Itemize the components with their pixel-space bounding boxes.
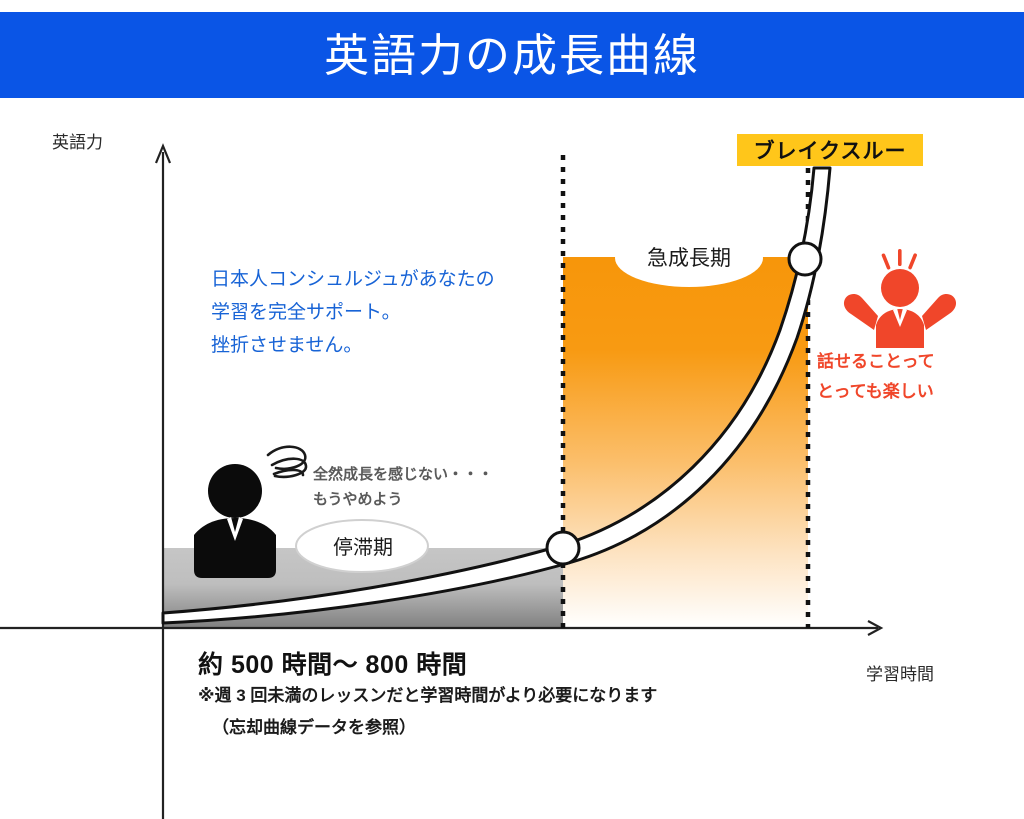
marker-breakthrough <box>789 243 821 275</box>
scribble-icon <box>268 447 306 477</box>
marker-stagnation-end <box>547 532 579 564</box>
consultant-support-note: 日本人コンシュルジュがあなたの 学習を完全サポート。 挫折させません。 <box>211 263 495 362</box>
phase-label-rapid-growth: 急成長期 <box>625 234 753 280</box>
businessman-silhouette-icon <box>194 464 276 578</box>
slide-canvas: 英語力の成長曲線 <box>0 0 1024 819</box>
x-axis-label: 学習時間 <box>866 660 934 685</box>
y-axis-label: 英語力 <box>52 128 103 153</box>
breakthrough-badge: ブレイクスルー <box>737 134 923 166</box>
footnote-hours: 約 500 時間〜 800 時間 <box>198 645 467 681</box>
footnote-forgetting-curve: （忘却曲線データを参照） <box>212 713 416 738</box>
celebrating-person-icon <box>844 249 956 348</box>
phase-label-stagnation: 停滞期 <box>308 524 418 566</box>
speaking-is-fun-note: 話せることって とっても楽しい <box>817 347 935 407</box>
region-rapid-growth <box>563 257 808 628</box>
frustration-note: 全然成長を感じない・・・ もうやめよう <box>313 462 493 512</box>
footnote-lesson-frequency: ※週 3 回未満のレッスンだと学習時間がより必要になります <box>198 681 657 706</box>
